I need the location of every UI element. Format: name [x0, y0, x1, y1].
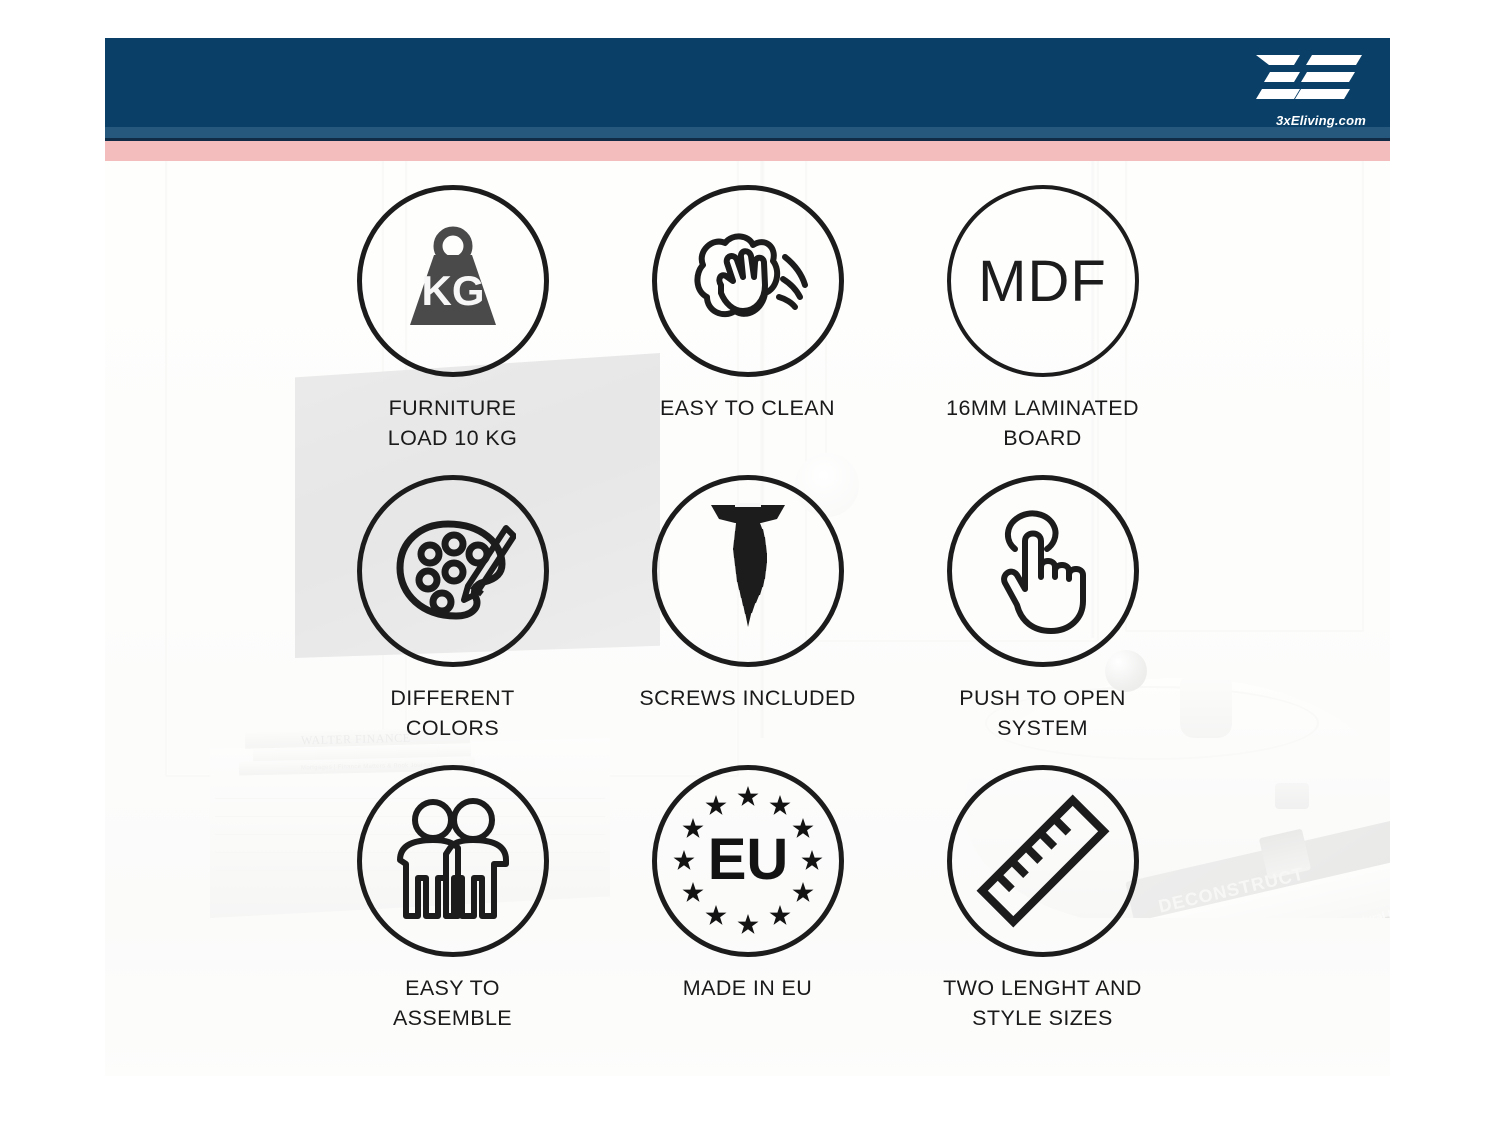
feature-label: 16MM LAMINATED BOARD: [946, 394, 1139, 453]
two-people-icon: [388, 798, 518, 924]
feature-icon-circle: MDF: [947, 185, 1139, 377]
feature-easy-to-assemble: EASY TO ASSEMBLE: [305, 765, 600, 1055]
feature-label: SCREWS INCLUDED: [639, 684, 855, 714]
feature-laminated-board: MDF 16MM LAMINATED BOARD: [895, 185, 1190, 475]
feature-furniture-load: KG FURNITURE LOAD 10 KG: [305, 185, 600, 475]
feature-icon-circle: [652, 185, 844, 377]
infographic-canvas: WALTER FINANCE Mortgages | Finance Matte…: [0, 0, 1500, 1125]
feature-easy-to-clean: EASY TO CLEAN: [600, 185, 895, 475]
feature-label: MADE IN EU: [683, 974, 812, 1004]
feature-icon-circle: [357, 765, 549, 957]
paint-palette-brush-icon: [390, 514, 516, 628]
feature-icon-circle: [357, 475, 549, 667]
feature-grid: KG FURNITURE LOAD 10 KG EASY TO CLEAN: [105, 185, 1390, 1055]
feature-icon-circle: KG: [357, 185, 549, 377]
ruler-icon: [975, 793, 1111, 929]
feature-label: EASY TO CLEAN: [660, 394, 835, 424]
feature-icon-circle: [947, 475, 1139, 667]
header-sheen: [105, 127, 1390, 138]
mdf-text-icon: MDF: [978, 248, 1107, 315]
eu-stars-icon: EU: [668, 781, 828, 941]
eu-label-text: EU: [707, 827, 788, 892]
feature-icon-circle: [652, 475, 844, 667]
hand-wiping-cloth-icon: [685, 227, 811, 335]
feature-label: FURNITURE LOAD 10 KG: [388, 394, 517, 453]
feature-push-to-open: PUSH TO OPEN SYSTEM: [895, 475, 1190, 765]
feature-label: DIFFERENT COLORS: [390, 684, 514, 743]
logo-mark-3e-icon: [1250, 52, 1368, 102]
feature-label: PUSH TO OPEN SYSTEM: [959, 684, 1126, 743]
feature-made-in-eu: EU MADE IN EU: [600, 765, 895, 1055]
feature-screws-included: SCREWS INCLUDED: [600, 475, 895, 765]
brand-logo[interactable]: 3xEliving.com: [1250, 52, 1368, 128]
feature-icon-circle: [947, 765, 1139, 957]
weight-kg-icon: KG: [394, 225, 512, 337]
feature-label: EASY TO ASSEMBLE: [393, 974, 512, 1033]
svg-text:KG: KG: [421, 267, 484, 314]
hand-push-tap-icon: [991, 505, 1095, 637]
accent-pink-bar: [105, 141, 1390, 161]
feature-label: TWO LENGHT AND STYLE SIZES: [943, 974, 1142, 1033]
header-bar: 3xEliving.com: [105, 38, 1390, 138]
feature-icon-circle: EU: [652, 765, 844, 957]
feature-different-colors: DIFFERENT COLORS: [305, 475, 600, 765]
screw-icon: [705, 501, 791, 641]
feature-length-style-sizes: TWO LENGHT AND STYLE SIZES: [895, 765, 1190, 1055]
logo-url-text: 3xEliving.com: [1276, 113, 1366, 128]
